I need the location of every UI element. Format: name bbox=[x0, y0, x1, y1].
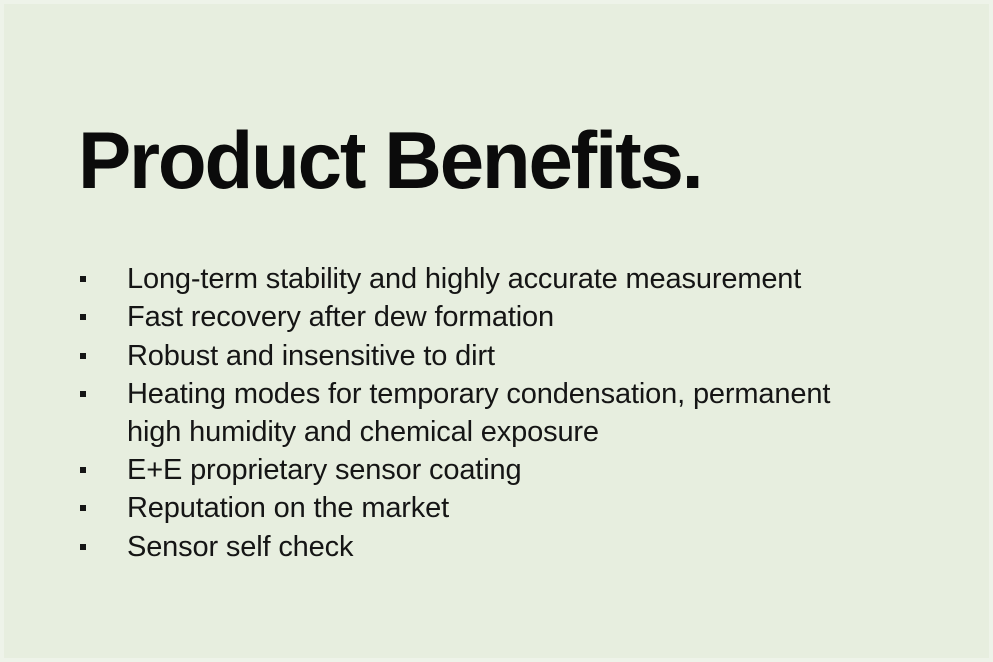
square-bullet-icon bbox=[80, 391, 86, 397]
list-item: Fast recovery after dew formation bbox=[78, 299, 908, 336]
list-item: Sensor self check bbox=[78, 529, 908, 566]
square-bullet-icon bbox=[80, 467, 86, 473]
presentation-slide: Product Benefits. Long-term stability an… bbox=[0, 0, 993, 662]
list-item: Long-term stability and highly accurate … bbox=[78, 261, 908, 298]
list-item-label: Long-term stability and highly accurate … bbox=[127, 261, 908, 298]
square-bullet-icon bbox=[80, 353, 86, 359]
list-item: Heating modes for temporary condensation… bbox=[78, 376, 908, 451]
page-title: Product Benefits. bbox=[78, 121, 702, 202]
square-bullet-icon bbox=[80, 505, 86, 511]
list-item-label: E+E proprietary sensor coating bbox=[127, 452, 908, 489]
list-item: Robust and insensitive to dirt bbox=[78, 338, 908, 375]
list-item: E+E proprietary sensor coating bbox=[78, 452, 908, 489]
square-bullet-icon bbox=[80, 276, 86, 282]
list-item: Reputation on the market bbox=[78, 490, 908, 527]
list-item-label: Reputation on the market bbox=[127, 490, 908, 527]
list-item-label: Sensor self check bbox=[127, 529, 908, 566]
square-bullet-icon bbox=[80, 314, 86, 320]
list-item-label: Robust and insensitive to dirt bbox=[127, 338, 908, 375]
benefits-list: Long-term stability and highly accurate … bbox=[78, 261, 908, 567]
list-item-label: Fast recovery after dew formation bbox=[127, 299, 908, 336]
list-item-label: Heating modes for temporary condensation… bbox=[127, 376, 908, 451]
square-bullet-icon bbox=[80, 544, 86, 550]
